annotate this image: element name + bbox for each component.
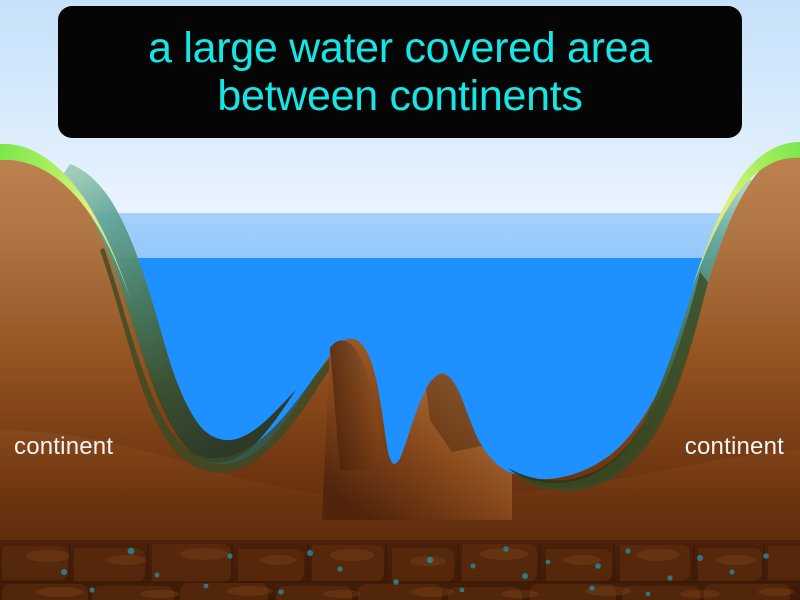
ocean-definition-illustration: a large water covered area between conti…: [0, 0, 800, 600]
label-continent-right: continent: [685, 433, 784, 461]
rock-blocks: [2, 544, 800, 600]
definition-text: a large water covered area between conti…: [134, 24, 666, 120]
label-continent-left: continent: [14, 433, 113, 461]
definition-banner: a large water covered area between conti…: [58, 6, 742, 138]
